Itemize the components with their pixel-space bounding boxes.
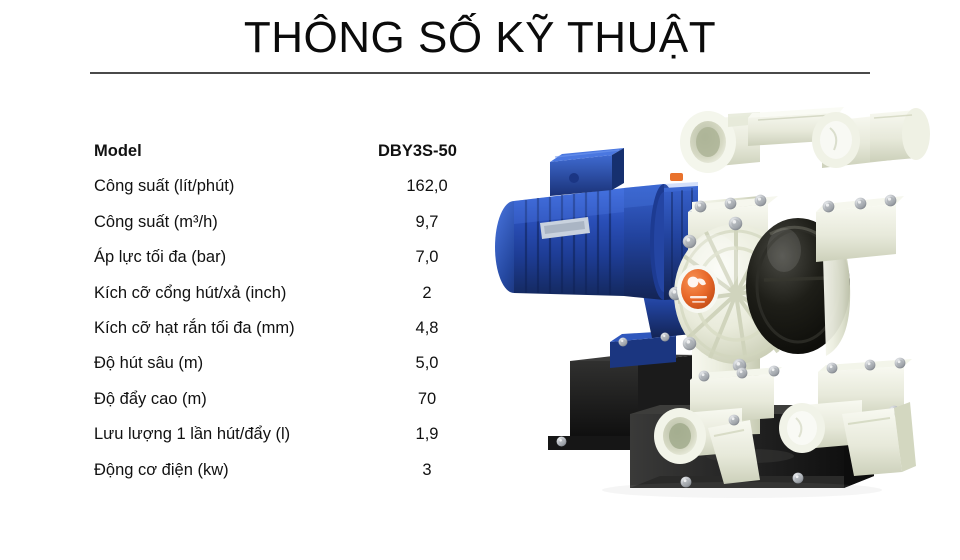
ground-shadow (602, 482, 882, 498)
spec-label: Độ hút sâu (m) (94, 353, 372, 373)
spec-value: 5,0 (372, 353, 482, 373)
base-bolt (793, 473, 804, 484)
header-label-model: Model (94, 141, 372, 161)
table-row: Kích cỡ hạt rắn tối đa (mm) 4,8 (94, 318, 484, 353)
spec-value: 162,0 (372, 176, 482, 196)
motor-foot-bolt (619, 338, 628, 347)
header-value-model: DBY3S-50 (372, 141, 488, 161)
rear-upper-valve-block (816, 204, 896, 262)
table-row: Áp lực tối đa (bar) 7,0 (94, 247, 484, 282)
spec-label: Độ đẩy cao (m) (94, 389, 372, 409)
spec-value: 9,7 (372, 212, 482, 232)
spec-label: Áp lực tối đa (bar) (94, 247, 372, 267)
spec-label: Động cơ điện (kw) (94, 460, 372, 480)
table-row: Độ hút sâu (m) 5,0 (94, 353, 484, 388)
spec-label: Lưu lượng 1 lần hút/đẩy (l) (94, 424, 372, 444)
table-row: Kích cỡ cổng hút/xả (inch) 2 (94, 283, 484, 318)
motor-foot-bolt (661, 333, 670, 342)
manifold-bolt (729, 415, 740, 426)
electric-motor (495, 148, 698, 368)
spec-value: 70 (372, 389, 482, 409)
spec-label: Kích cỡ cổng hút/xả (inch) (94, 283, 372, 303)
table-row: Công suất (lít/phút) 162,0 (94, 176, 484, 211)
title-divider (90, 72, 870, 74)
table-row: Động cơ điện (kw) 3 (94, 460, 484, 495)
orange-indicator (670, 173, 683, 181)
motor-terminal-box (550, 148, 624, 196)
specifications-table: Model DBY3S-50 Công suất (lít/phút) 162,… (94, 141, 484, 495)
spec-value: 4,8 (372, 318, 482, 338)
table-header-row: Model DBY3S-50 (94, 141, 484, 176)
table-row: Lưu lượng 1 lần hút/đẩy (l) 1,9 (94, 424, 484, 459)
spec-value: 1,9 (372, 424, 482, 444)
spec-label: Công suất (lít/phút) (94, 176, 372, 196)
table-row: Công suất (m³/h) 9,7 (94, 212, 484, 247)
base-bolt (557, 437, 567, 447)
product-photo (492, 84, 960, 508)
spec-value: 3 (372, 460, 482, 480)
table-row: Độ đẩy cao (m) 70 (94, 389, 484, 424)
spec-label: Công suất (m³/h) (94, 212, 372, 232)
brand-logo-badge (677, 265, 719, 313)
page-title: THÔNG SỐ KỸ THUẬT (0, 10, 960, 66)
spec-value: 2 (372, 283, 482, 303)
spec-label: Kích cỡ hạt rắn tối đa (mm) (94, 318, 372, 338)
pump-illustration (492, 84, 960, 508)
spec-value: 7,0 (372, 247, 482, 267)
pedestal-box-left (570, 361, 638, 442)
top-capped-port (812, 108, 930, 168)
